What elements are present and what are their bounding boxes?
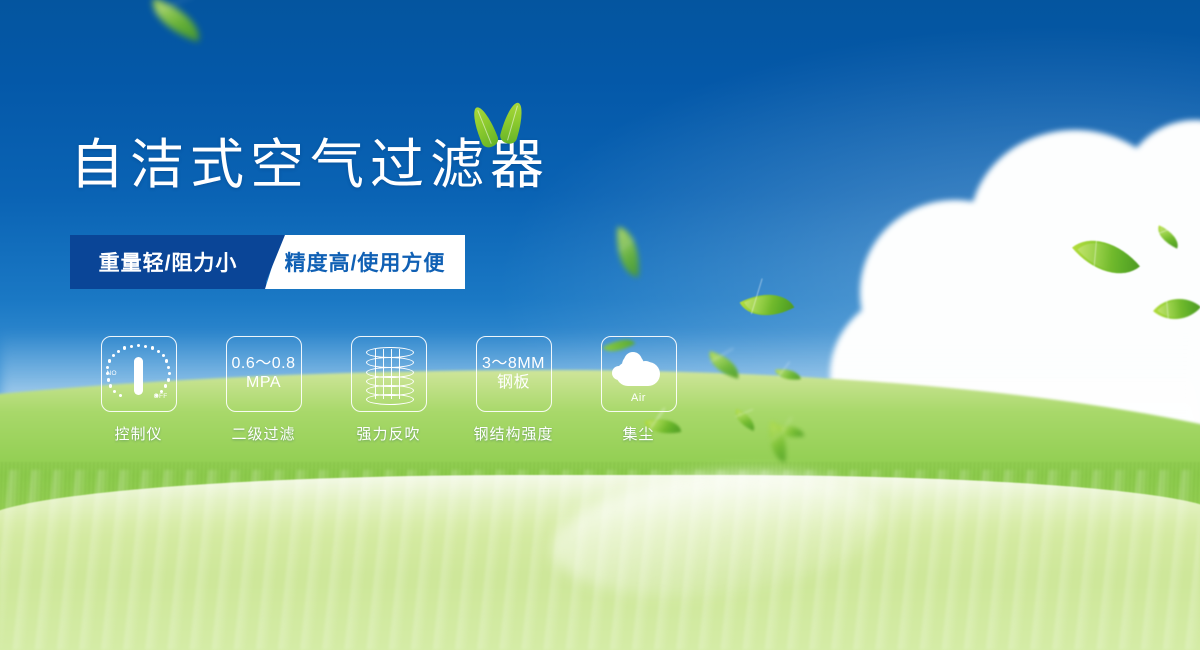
feature-list: NO OFF 控制仪 0.6～0.8 MPA 二级过滤 — [76, 336, 701, 444]
feature-item-backblow[interactable]: 强力反吹 — [326, 336, 451, 444]
product-banner: 自洁式空气过滤器 重量轻/阻力小 精度高/使用方便 — [0, 0, 1200, 650]
feature-label: 钢结构强度 — [473, 423, 553, 444]
feature-label: 控制仪 — [114, 423, 162, 444]
pressure-line-2: MPA — [232, 374, 296, 393]
subtitle-right-text: 精度高/使用方便 — [285, 247, 446, 277]
air-caption: Air — [608, 392, 670, 404]
feature-item-secondary-filter[interactable]: 0.6～0.8 MPA 二级过滤 — [201, 336, 326, 444]
feature-item-dust-collection[interactable]: Air 集尘 — [576, 336, 701, 444]
gauge-icon: NO OFF — [108, 344, 170, 404]
subtitle-bar: 重量轻/阻力小 精度高/使用方便 — [70, 235, 465, 289]
feature-icon-box — [351, 336, 427, 412]
sprout-leaf-right — [499, 100, 527, 145]
title-block: 自洁式空气过滤器 — [70, 138, 550, 192]
cloud-air-icon: Air — [608, 346, 670, 402]
subtitle-left-panel: 重量轻/阻力小 — [70, 235, 266, 289]
thickness-line-1: 3～8MM — [482, 355, 545, 374]
pressure-line-1: 0.6～0.8 — [232, 355, 296, 374]
feature-label: 二级过滤 — [231, 423, 295, 444]
gauge-label-no: NO — [107, 370, 117, 377]
pressure-text-icon: 0.6～0.8 MPA — [232, 355, 296, 393]
feature-item-steel-strength[interactable]: 3～8MM 钢板 钢结构强度 — [451, 336, 576, 444]
thickness-line-2: 钢板 — [482, 374, 545, 393]
subtitle-left-text: 重量轻/阻力小 — [99, 247, 238, 277]
sprout-leaves-decoration — [470, 100, 560, 152]
subtitle-right-panel: 精度高/使用方便 — [265, 235, 465, 289]
feature-item-controller[interactable]: NO OFF 控制仪 — [76, 336, 201, 444]
feature-icon-box: Air — [601, 336, 677, 412]
feature-label: 强力反吹 — [356, 423, 420, 444]
gauge-label-off: OFF — [154, 393, 168, 400]
feature-icon-box: 0.6～0.8 MPA — [226, 336, 302, 412]
gauge-lever — [134, 357, 143, 395]
coil-filter-icon — [362, 345, 416, 403]
feature-icon-box: NO OFF — [101, 336, 177, 412]
feature-icon-box: 3～8MM 钢板 — [476, 336, 552, 412]
sprout-leaf-left — [469, 104, 500, 149]
thickness-text-icon: 3～8MM 钢板 — [482, 355, 545, 393]
feature-label: 集尘 — [622, 423, 654, 444]
